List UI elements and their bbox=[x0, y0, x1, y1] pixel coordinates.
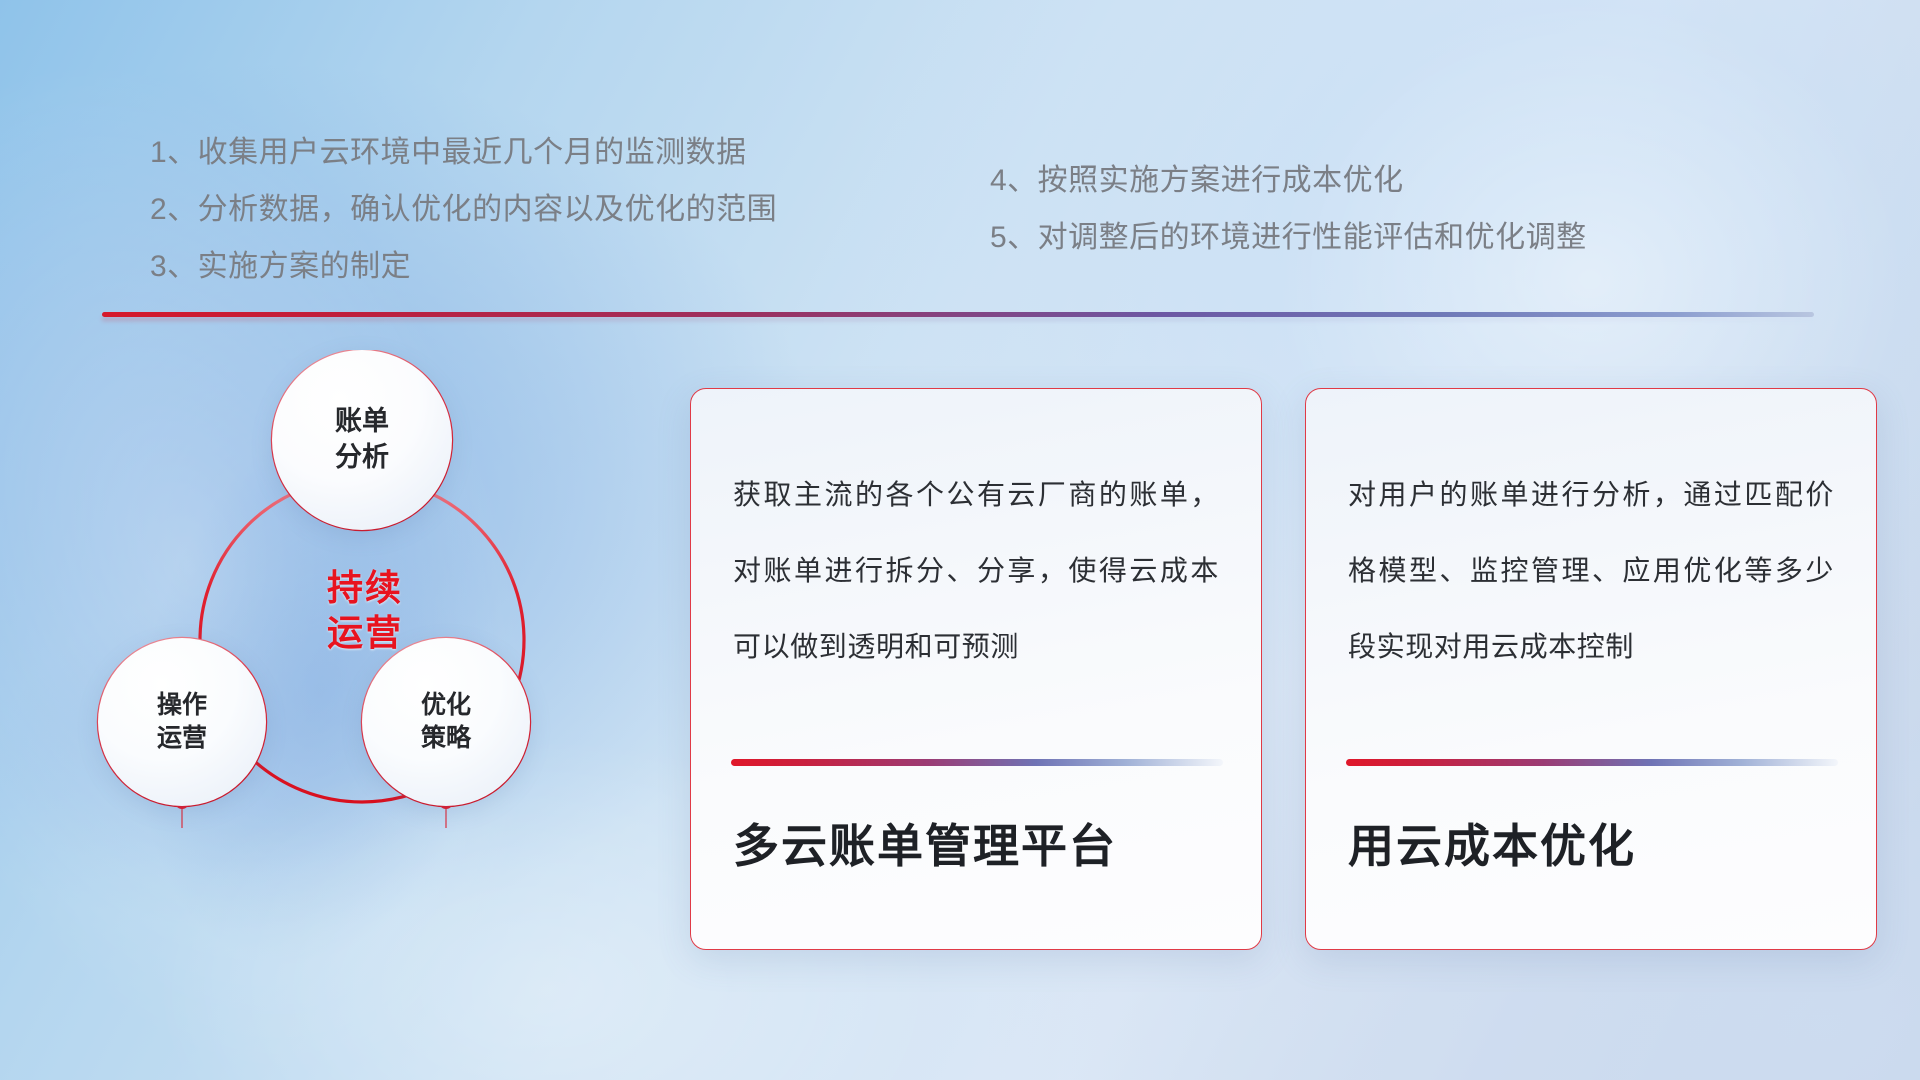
info-card-cloud-cost-optimization[interactable]: 对用户的账单进行分析，通过匹配价格模型、监控管理、应用优化等多少段实现对用云成本… bbox=[1305, 388, 1877, 950]
venn-center-line-1: 持续 bbox=[240, 565, 490, 610]
card-title: 用云成本优化 bbox=[1348, 819, 1846, 874]
venn-bubble-optimization-strategy[interactable]: 优化 策略 bbox=[362, 638, 530, 806]
venn-center-line-2: 运营 bbox=[240, 610, 490, 655]
steps-list: 1、收集用户云环境中最近几个月的监测数据 2、分析数据，确认优化的内容以及优化的… bbox=[0, 104, 1920, 284]
venn-diagram: 账单 分析 操作 运营 优化 策略 持续 运营 bbox=[90, 350, 620, 940]
slide-canvas: 1、收集用户云环境中最近几个月的监测数据 2、分析数据，确认优化的内容以及优化的… bbox=[0, 0, 1920, 1080]
step-item-1: 1、收集用户云环境中最近几个月的监测数据 bbox=[150, 124, 777, 181]
step-item-5: 5、对调整后的环境进行性能评估和优化调整 bbox=[990, 209, 1587, 266]
steps-column-left: 1、收集用户云环境中最近几个月的监测数据 2、分析数据，确认优化的内容以及优化的… bbox=[150, 124, 777, 295]
card-divider bbox=[731, 759, 1223, 766]
venn-bubble-bill-analysis[interactable]: 账单 分析 bbox=[272, 350, 452, 530]
steps-column-right: 4、按照实施方案进行成本优化 5、对调整后的环境进行性能评估和优化调整 bbox=[990, 152, 1587, 266]
card-title: 多云账单管理平台 bbox=[733, 819, 1231, 874]
step-item-2: 2、分析数据，确认优化的内容以及优化的范围 bbox=[150, 181, 777, 238]
card-body-text: 获取主流的各个公有云厂商的账单，对账单进行拆分、分享，使得云成本可以做到透明和可… bbox=[733, 457, 1219, 685]
card-body-text: 对用户的账单进行分析，通过匹配价格模型、监控管理、应用优化等多少段实现对用云成本… bbox=[1348, 457, 1834, 685]
section-divider-rule bbox=[102, 312, 1814, 317]
venn-bubble-line-1: 优化 bbox=[421, 689, 471, 722]
venn-bubble-line-2: 策略 bbox=[421, 722, 471, 755]
step-item-4: 4、按照实施方案进行成本优化 bbox=[990, 152, 1587, 209]
info-card-multi-cloud-bill-platform[interactable]: 获取主流的各个公有云厂商的账单，对账单进行拆分、分享，使得云成本可以做到透明和可… bbox=[690, 388, 1262, 950]
card-divider bbox=[1346, 759, 1838, 766]
venn-bubble-operation[interactable]: 操作 运营 bbox=[98, 638, 266, 806]
venn-bubble-line-1: 账单 bbox=[335, 404, 389, 440]
venn-center-label: 持续 运营 bbox=[240, 565, 490, 655]
venn-bubble-line-2: 运营 bbox=[157, 722, 207, 755]
step-item-3: 3、实施方案的制定 bbox=[150, 238, 777, 295]
venn-bubble-line-1: 操作 bbox=[157, 689, 207, 722]
venn-bubble-line-2: 分析 bbox=[335, 440, 389, 476]
